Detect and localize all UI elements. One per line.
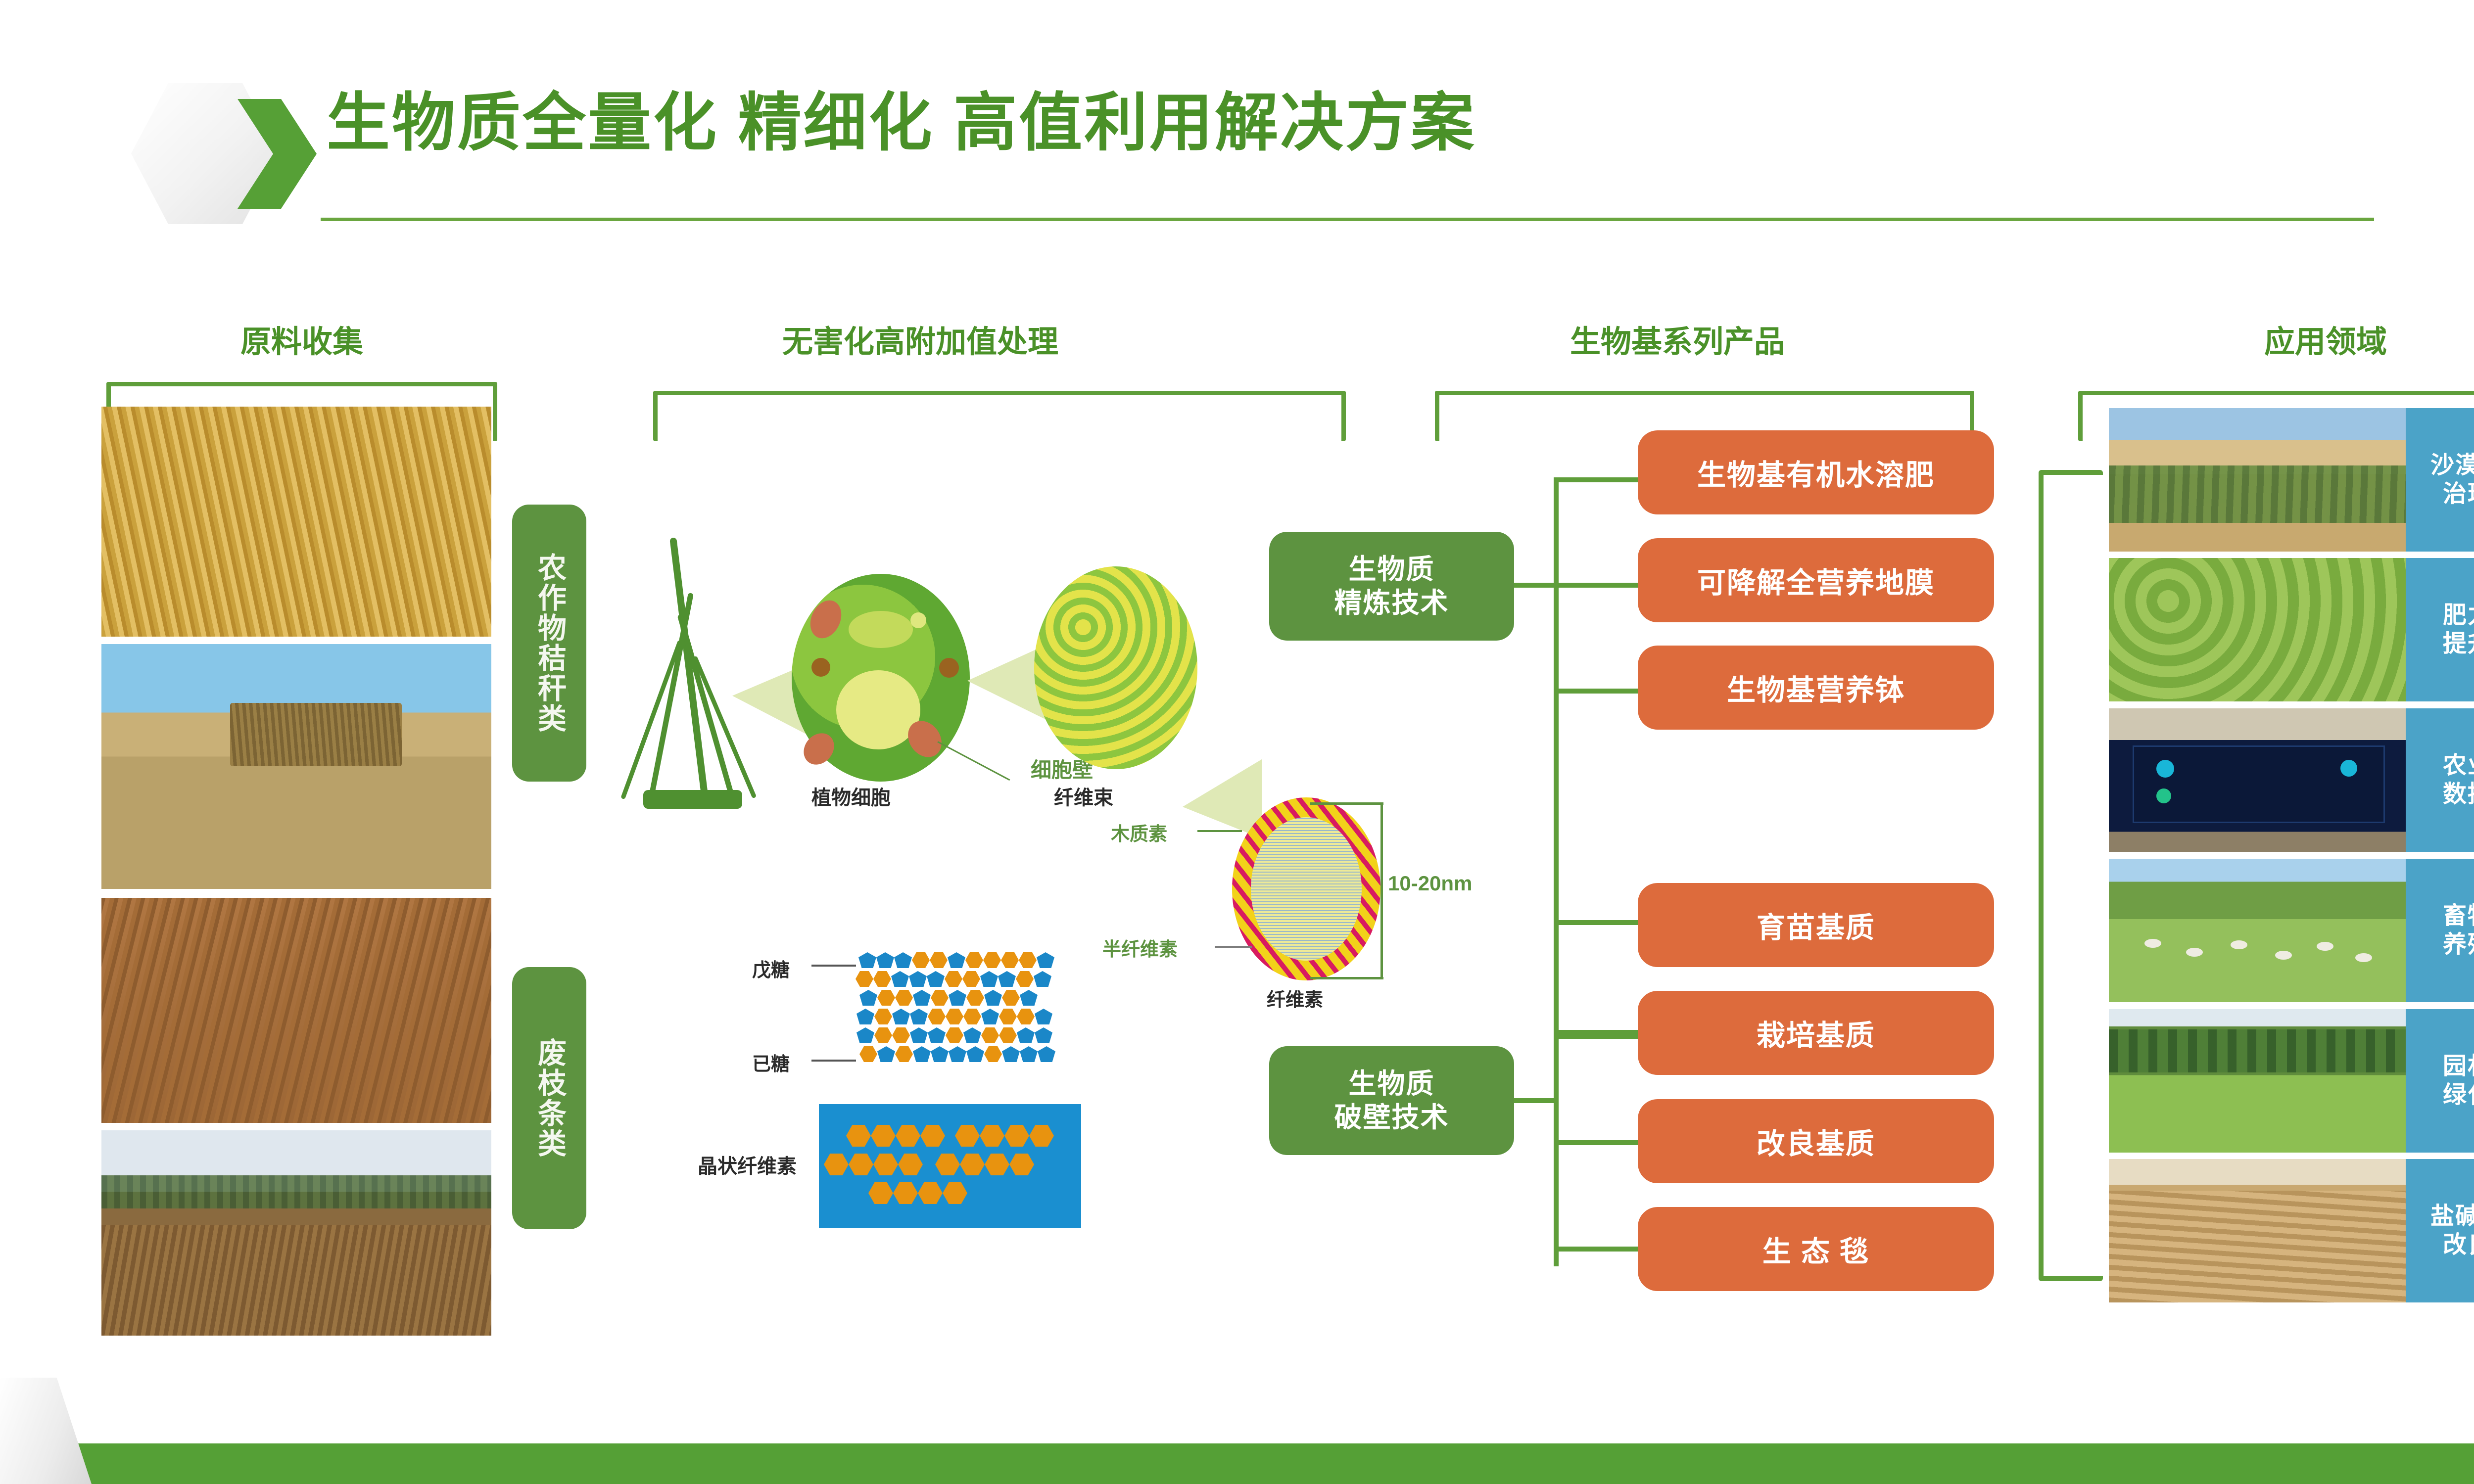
crystalline-cellulose-label: 晶状纤维素 [698,1150,797,1179]
tech-pill-cell-wall-breaking[interactable]: 生物质 破壁技术 [1269,1046,1514,1155]
footer-bar [0,1443,2474,1484]
hemicellulose-label: 半纤维素 [1102,934,1178,961]
cellulose-label: 纤维素 [1267,984,1323,1012]
feedstock-photo-branches [101,898,491,1123]
hexose-leader-line [811,1060,856,1062]
cell-wall-leader-line [937,741,1010,781]
cellulose-core-lattice [1251,817,1362,961]
tech-pill-line1: 生物质 [1349,1067,1435,1101]
application-photo-park [2109,1009,2406,1153]
tech-pill-biomass-refining[interactable]: 生物质 精炼技术 [1269,532,1514,641]
dimension-tick-bottom [1310,977,1383,979]
page-header: 生物质全量化 精细化 高值利用解决方案 [0,0,2474,232]
sugar-chain-diagram [858,952,1091,1071]
tech-pill-line2: 精炼技术 [1334,586,1449,620]
straw-bale-shape [230,703,402,767]
stage-label-products: 生物基系列产品 [1425,317,1930,361]
app-label-line2: 改良 [2443,1231,2474,1259]
dimension-line-vertical [1380,802,1383,979]
connector-refining-stub [1514,583,1559,588]
connector-refining-branch-2 [1554,583,1643,588]
product-label: 改良基质 [1757,1120,1875,1162]
app-label-line1: 肥力 [2443,601,2474,630]
feedstock-photo-corn-straw [101,407,491,637]
sheep-shape [2144,939,2161,948]
sugar-row [856,1009,1052,1024]
app-label-line1: 农业 [2443,751,2474,780]
stage-bracket-processing [653,391,1346,441]
feedstock-photo-straw-bale [101,644,491,889]
sugar-row [856,1027,1052,1043]
application-label-fertility-improvement[interactable]: 肥力 提升 [2406,558,2474,701]
product-pill-seedling-substrate[interactable]: 育苗基质 [1638,883,1994,967]
lignin-leader-line [1197,830,1242,832]
orchard-treeline [101,1175,491,1208]
app-label-line2: 提升 [2443,630,2474,658]
product-label: 育苗基质 [1757,904,1875,946]
saline-field-rows [2109,1191,2406,1302]
product-label: 生物基营养钵 [1727,667,1905,708]
product-label: 栽培基质 [1757,1012,1875,1054]
park-treeline [2109,1029,2406,1072]
app-label-line2: 养殖 [2443,930,2474,959]
product-pill-ecological-blanket[interactable]: 生 态 毯 [1638,1207,1994,1291]
sugar-row [858,952,1054,968]
plant-cell-granule-2 [811,658,830,677]
app-label-line2: 治理 [2443,480,2474,509]
connector-cellwall-stub [1514,1098,1559,1103]
dimension-tick-top [1310,802,1383,805]
application-photo-pasture [2109,859,2406,1002]
app-label-line1: 园林 [2443,1052,2474,1081]
app-label-line2: 绿化 [2443,1081,2474,1110]
fiber-bundle-label: 纤维束 [1054,782,1113,810]
application-photo-cabbage [2109,558,2406,701]
feedstock-category-crop-straw: 农作物秸秆类 [512,505,586,782]
application-label-landscape-greening[interactable]: 园林 绿化 [2406,1009,2474,1153]
application-label-saline-alkali-improvement[interactable]: 盐碱地 改良 [2406,1159,2474,1302]
plant-cell-granule-1 [939,658,959,678]
feedstock-photo-orchard [101,1130,491,1336]
application-photo-data-center [2109,708,2406,852]
application-label-desertification-control[interactable]: 沙漠化 治理 [2406,408,2474,552]
hemicellulose-leader-line [1215,946,1252,948]
grass-plant-icon [638,537,747,814]
pentose-leader-line [811,965,856,967]
product-pill-cultivation-substrate[interactable]: 栽培基质 [1638,991,1994,1075]
vpill-label: 农作物秸秆类 [528,553,570,734]
connector-refining-branch-1 [1554,477,1643,482]
pentose-label: 戊糖 [752,955,790,982]
page-title: 生物质全量化 精细化 高值利用解决方案 [327,92,1476,155]
product-label: 可降解全营养地膜 [1697,559,1935,601]
application-photo-desert [2109,408,2406,552]
vpill-label: 废枝条类 [528,1038,570,1159]
stage-label-processing: 无害化高附加值处理 [658,317,1183,361]
app-label-line1: 盐碱地 [2430,1202,2474,1231]
product-label: 生 态 毯 [1762,1228,1869,1270]
plant-cell-granule-3 [910,612,926,628]
product-pill-water-soluble-fertilizer[interactable]: 生物基有机水溶肥 [1638,430,1994,514]
sheep-shape [2355,953,2372,962]
fiber-bundle-illustration [1034,566,1197,769]
orchard-ground [101,1225,491,1336]
sugar-row [856,971,1051,987]
sugar-row [859,1046,1055,1062]
footer-wedge-decoration [0,1378,92,1484]
plant-cell-vacuole [849,611,913,648]
connector-cellwall-spine [1554,920,1559,1266]
application-label-livestock-breeding[interactable]: 畜牧 养殖 [2406,859,2474,1002]
lignin-label: 木质素 [1111,819,1167,846]
connector-cellwall-branch-2 [1554,1030,1643,1035]
product-pill-nutrient-pot[interactable]: 生物基营养钵 [1638,646,1994,730]
sugar-row [859,990,1038,1006]
dimension-label: 10-20nm [1388,872,1472,895]
application-label-agriculture-data[interactable]: 农业 数据 [2406,708,2474,852]
sheep-shape [2317,942,2333,951]
app-label-line2: 数据 [2443,780,2474,809]
app-label-line1: 沙漠化 [2430,451,2474,480]
sheep-shape [2275,951,2292,960]
crystalline-cellulose-diagram [819,1104,1081,1228]
product-label: 生物基有机水溶肥 [1697,452,1935,493]
desert-scrub [2109,465,2406,523]
tech-pill-line2: 破壁技术 [1334,1101,1449,1134]
sheep-shape [2231,940,2247,949]
sheep-shape [2186,948,2203,957]
title-divider [321,218,2374,221]
app-label-line1: 畜牧 [2443,902,2474,930]
application-photo-saline-land [2109,1159,2406,1302]
connector-refining-branch-3b [1554,689,1643,694]
stage-label-feedstock: 原料收集 [163,317,440,361]
tech-pill-line1: 生物质 [1349,553,1435,586]
magnify-beam-3 [1183,759,1262,838]
feedstock-category-waste-branches: 废枝条类 [512,967,586,1229]
data-dashboard-screen [2133,745,2385,823]
connector-cellwall-branch-1 [1554,920,1643,925]
product-pill-amendment-substrate[interactable]: 改良基质 [1638,1099,1994,1183]
hexose-label: 已糖 [752,1049,790,1076]
application-bracket [2039,470,2103,1281]
connector-refining-spine-fix [1554,477,1559,694]
connector-cellwall-branch-3 [1554,1140,1643,1145]
product-pill-biodegradable-mulch-film[interactable]: 可降解全营养地膜 [1638,538,1994,622]
stage-label-applications: 应用领域 [2138,317,2474,361]
connector-cellwall-branch-4 [1554,1247,1643,1252]
plant-cell-label: 植物细胞 [811,782,891,810]
